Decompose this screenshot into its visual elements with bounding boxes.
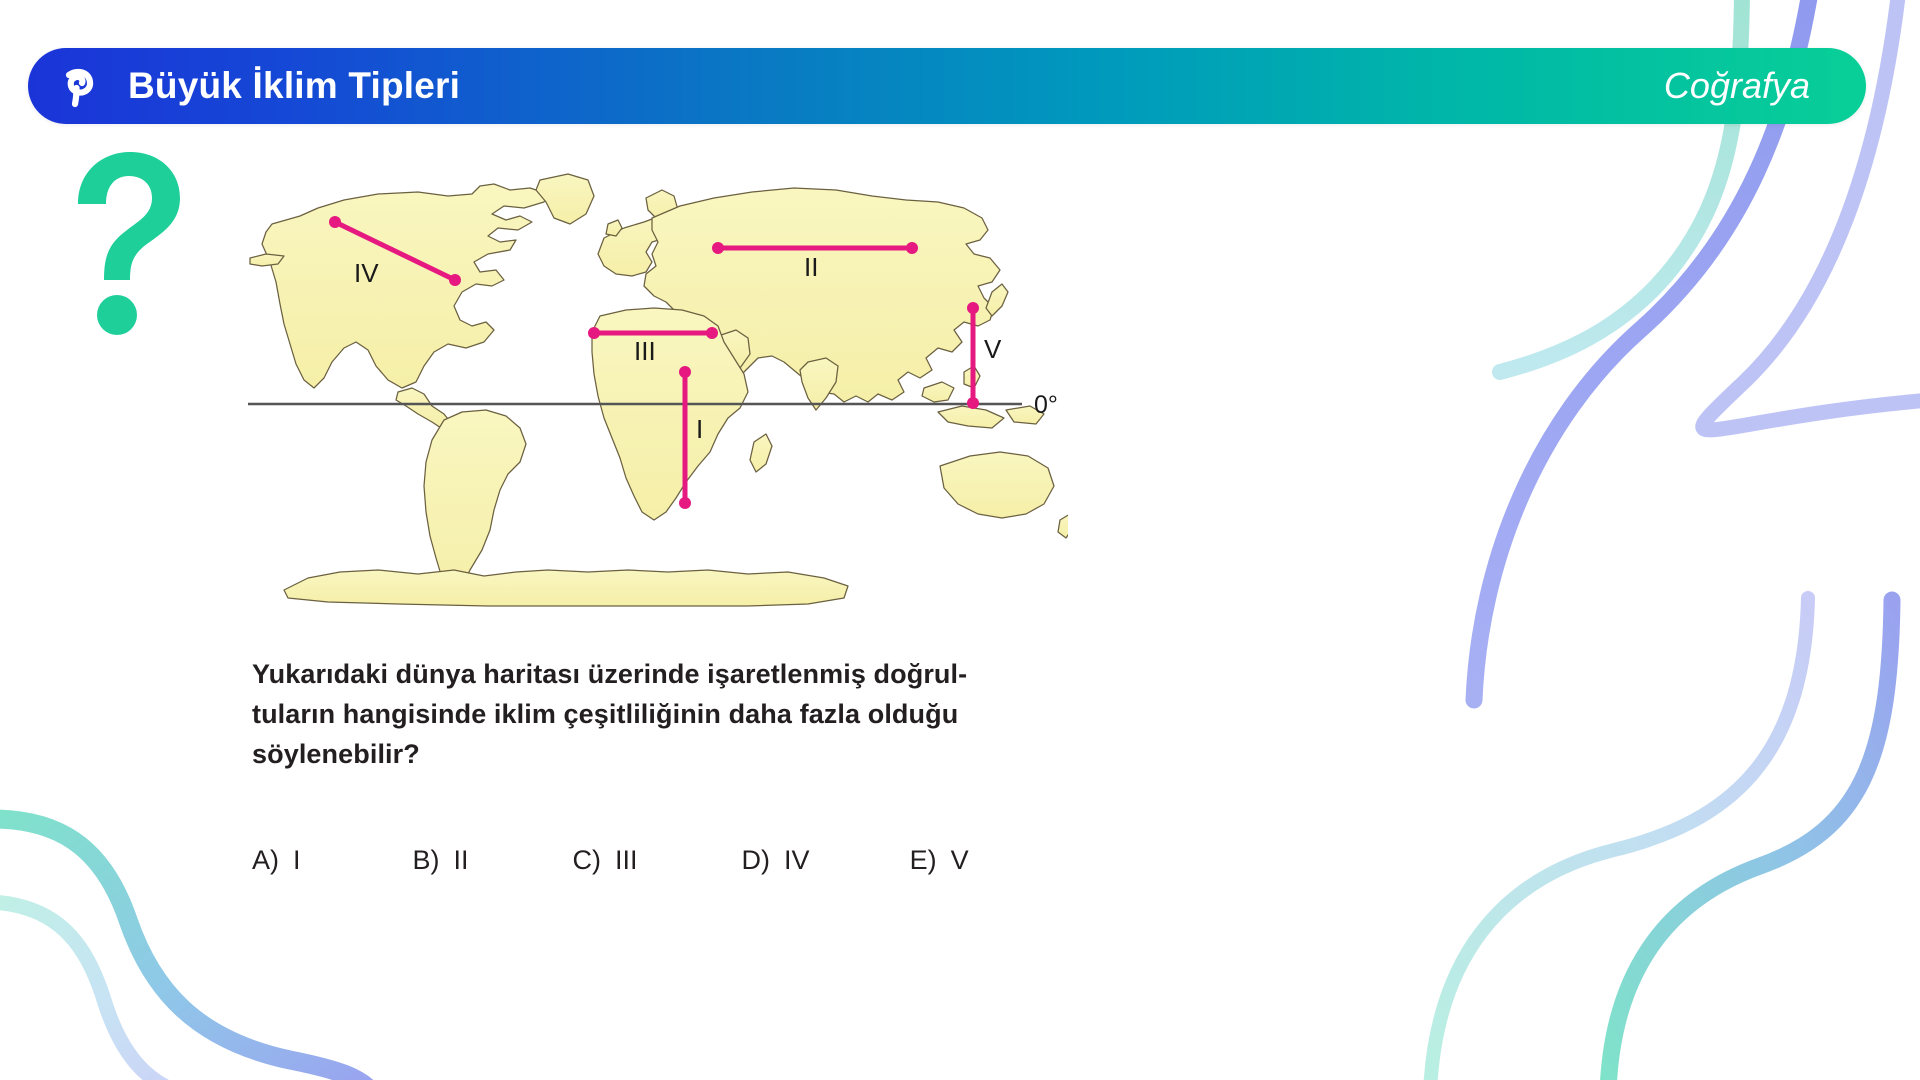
- option-c[interactable]: C)III: [573, 845, 638, 876]
- route-label-ii: II: [804, 252, 818, 282]
- question-mark-icon: [68, 148, 188, 338]
- option-spacer: [638, 845, 742, 876]
- route-endpoint-iv-start: [329, 216, 341, 228]
- landmass-indonesia: [938, 406, 1004, 428]
- route-endpoint-ii-start: [712, 242, 724, 254]
- landmass-se-asia-islands: [922, 382, 954, 402]
- question-line-2: tuların hangisinde iklim çeşitliliğinin …: [252, 695, 1212, 735]
- option-spacer: [810, 845, 910, 876]
- option-e[interactable]: E)V: [910, 845, 969, 876]
- landmass-new-zealand: [1058, 514, 1068, 538]
- route-endpoint-iii-end: [706, 327, 718, 339]
- subject-badge: Coğrafya: [1664, 65, 1810, 107]
- option-b-letter: B): [413, 845, 440, 875]
- route-endpoint-iii-start: [588, 327, 600, 339]
- route-endpoint-i-end: [679, 497, 691, 509]
- option-a-value: I: [293, 845, 301, 875]
- landmass-greenland: [536, 174, 594, 224]
- route-endpoint-i-start: [679, 366, 691, 378]
- decor-ribbon-bottom-right: [1608, 600, 1892, 1080]
- option-d-value: IV: [784, 845, 810, 875]
- world-map-figure: 0° IV II III: [248, 166, 1068, 626]
- route-endpoint-iv-end: [449, 274, 461, 286]
- route-label-i: I: [696, 414, 703, 444]
- route-endpoint-v-start: [967, 302, 979, 314]
- question-line-1: Yukarıdaki dünya haritası üzerinde işare…: [252, 655, 1212, 695]
- landmass-antarctica: [284, 570, 848, 606]
- route-endpoint-ii-end: [906, 242, 918, 254]
- option-c-value: III: [615, 845, 638, 875]
- option-b[interactable]: B)II: [413, 845, 469, 876]
- route-label-v: V: [984, 334, 1002, 364]
- landmass-australia: [940, 452, 1054, 518]
- option-b-value: II: [454, 845, 469, 875]
- question-line-3: söylenebilir?: [252, 735, 1212, 775]
- option-spacer: [469, 845, 573, 876]
- route-endpoint-v-end: [967, 397, 979, 409]
- option-d-letter: D): [742, 845, 771, 875]
- header-bar: Büyük İklim Tipleri Coğrafya: [28, 48, 1866, 124]
- option-a[interactable]: A)I: [252, 845, 301, 876]
- equator-label: 0°: [1034, 391, 1058, 419]
- option-spacer: [301, 845, 413, 876]
- landmass-japan: [986, 284, 1008, 316]
- landmass-madagascar: [750, 434, 772, 472]
- option-a-letter: A): [252, 845, 279, 875]
- page-title: Büyük İklim Tipleri: [128, 65, 460, 107]
- option-e-value: V: [951, 845, 969, 875]
- question-text: Yukarıdaki dünya haritası üzerinde işare…: [252, 655, 1212, 775]
- landmass-north-america: [262, 184, 548, 388]
- p-logo-icon[interactable]: [52, 60, 104, 112]
- option-e-letter: E): [910, 845, 937, 875]
- slide-root: Büyük İklim Tipleri Coğrafya: [0, 0, 1920, 1080]
- option-d[interactable]: D)IV: [742, 845, 810, 876]
- option-c-letter: C): [573, 845, 602, 875]
- answer-options: A)I B)II C)III D)IV E)V: [252, 845, 969, 876]
- route-label-iii: III: [634, 336, 656, 366]
- decor-ribbon-bottom-right-2: [1430, 598, 1808, 1080]
- route-label-iv: IV: [354, 258, 379, 288]
- landmass-india: [800, 358, 838, 410]
- decor-ribbon-bottom-left-2: [0, 902, 190, 1080]
